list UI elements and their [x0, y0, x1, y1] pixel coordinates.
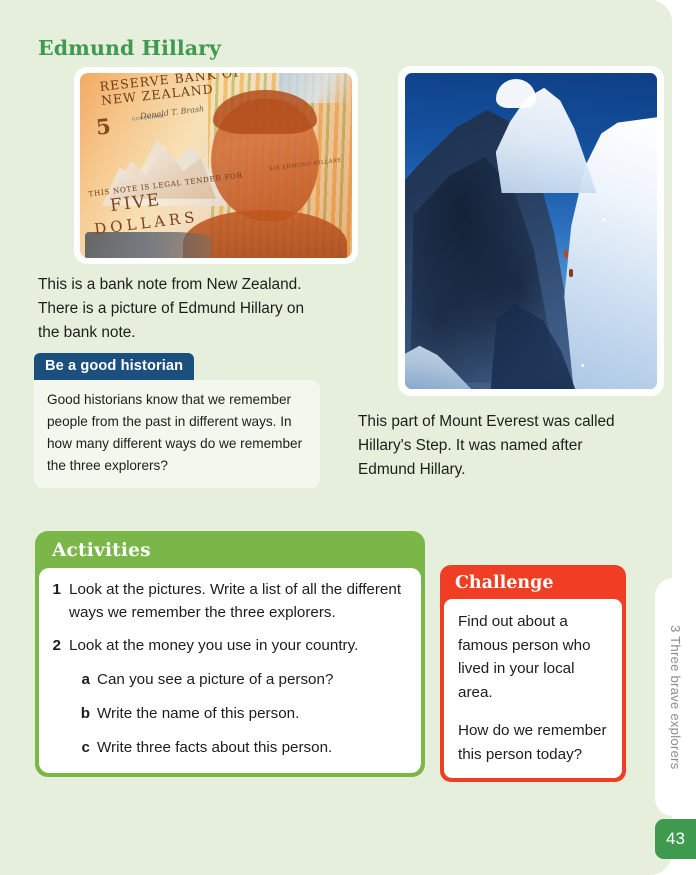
activities-box: Activities 1 Look at the pictures. Write… — [35, 531, 425, 777]
activity-number: 1 — [49, 579, 69, 602]
banknote-image: RESERVE BANK OF NEW ZEALAND 5 Donald T. … — [80, 73, 352, 258]
mountain-summit-cap — [496, 79, 536, 107]
activity-number: 2 — [49, 635, 69, 658]
activities-header: Activities — [39, 535, 421, 568]
mountain-figure — [398, 66, 664, 396]
mountain-image — [405, 73, 657, 389]
activity-sub-item: c Write three facts about this person. — [79, 737, 409, 759]
banknote-caption: This is a bank note from New Zealand. Th… — [38, 273, 328, 344]
challenge-paragraph: Find out about a famous person who lived… — [458, 610, 610, 705]
be-a-good-historian-header: Be a good historian — [34, 353, 194, 380]
challenge-box: Challenge Find out about a famous person… — [440, 565, 626, 782]
activity-item: 1 Look at the pictures. Write a list of … — [49, 579, 409, 624]
challenge-body: Find out about a famous person who lived… — [444, 599, 622, 778]
unit-sidebar-label: 3 Three brave explorers — [655, 578, 696, 816]
activity-sub-text: Write the name of this person. — [97, 703, 299, 725]
page-panel: Edmund Hillary RESERVE BANK OF NEW ZEALA… — [0, 0, 672, 875]
challenge-header: Challenge — [444, 569, 622, 599]
activity-sub-letter: a — [79, 669, 97, 691]
page-number-badge: 43 — [655, 819, 696, 859]
activity-text: Look at the money you use in your countr… — [69, 635, 358, 658]
page-title: Edmund Hillary — [38, 36, 221, 60]
activities-body: 1 Look at the pictures. Write a list of … — [39, 568, 421, 773]
activity-sub-text: Write three facts about this person. — [97, 737, 332, 759]
unit-sidebar-tab: 3 Three brave explorers — [655, 578, 696, 816]
mountain-climber-icon — [569, 269, 573, 277]
banknote-figure: RESERVE BANK OF NEW ZEALAND 5 Donald T. … — [74, 67, 358, 264]
banknote-bottom-band — [85, 232, 210, 258]
activity-sub-item: b Write the name of this person. — [79, 703, 409, 725]
activity-sub-item: a Can you see a picture of a person? — [79, 669, 409, 691]
banknote-denomination-numeral: 5 — [95, 113, 112, 139]
challenge-paragraph: How do we remember this person today? — [458, 719, 610, 766]
mountain-caption: This part of Mount Everest was called Hi… — [358, 410, 630, 482]
banknote-governor-label: GOVERNOR — [131, 115, 164, 123]
activity-item: 2 Look at the money you use in your coun… — [49, 635, 409, 658]
mountain-climber-icon — [564, 250, 568, 258]
activity-sub-letter: c — [79, 737, 97, 759]
activity-sub-text: Can you see a picture of a person? — [97, 669, 333, 691]
activity-text: Look at the pictures. Write a list of al… — [69, 579, 409, 624]
be-a-good-historian-box: Be a good historian Good historians know… — [34, 353, 320, 488]
be-a-good-historian-body: Good historians know that we remember pe… — [34, 380, 320, 488]
activity-sub-letter: b — [79, 703, 97, 725]
